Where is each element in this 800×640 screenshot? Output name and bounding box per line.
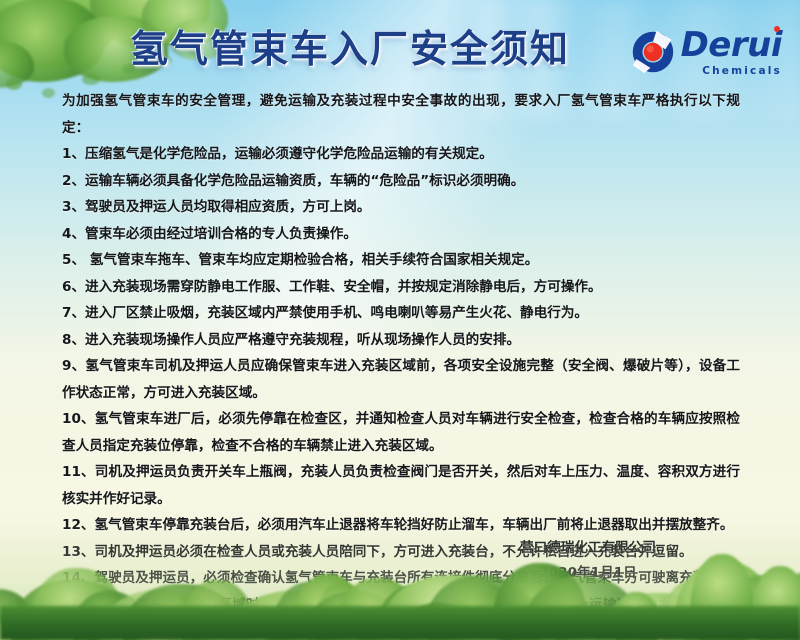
- rule-item-2: 2、运输车辆必须具备化学危险品运输资质，车辆的“危险品”标识必须明确。: [62, 168, 740, 195]
- logo-wordmark: Derui Chemicals: [681, 28, 782, 77]
- rule-item-7: 7、进入厂区禁止吸烟，充装区域内严禁使用手机、鸣电喇叭等易产生火花、静电行为。: [62, 300, 740, 327]
- rule-item-9: 9、氢气管束车司机及押运人员应确保管束车进入充装区域前，各项安全设施完整（安全阀…: [62, 353, 740, 406]
- derui-logo-mark-icon: [631, 30, 675, 74]
- rule-item-15: 15、氢气管束车驶离充装区域时，驾驶员或押运员必须全部关闭车后部的钢瓶阀。防止运…: [62, 592, 740, 640]
- tall-tree-crown: [752, 566, 800, 640]
- tree-crown: [742, 576, 800, 640]
- logo-subtitle: Chemicals: [702, 66, 782, 77]
- signature-block: 营口德瑞化工有限公司 2020年1月1日: [438, 536, 738, 586]
- tree-crown: [7, 626, 68, 640]
- logo-accent-dot-icon: [774, 26, 780, 32]
- tree-crown: [773, 571, 800, 640]
- tree-crown: [0, 589, 39, 640]
- rule-item-6: 6、进入充装现场需穿防静电工作服、工作鞋、安全帽，并按规定消除静电后，方可操作。: [62, 274, 740, 301]
- rule-item-12: 12、氢气管束车停靠充装台后，必须用汽车止退器将车轮挡好防止溜车，车辆出厂前将止…: [62, 512, 740, 539]
- company-logo: Derui Chemicals: [631, 28, 782, 77]
- rule-item-10: 10、氢气管束车进厂后，必须先停靠在检查区，并通知检查人员对车辆进行安全检查，检…: [62, 406, 740, 459]
- rule-item-5: 5、 氢气管束车拖车、管束车均应定期检验合格，相关手续符合国家相关规定。: [62, 247, 740, 274]
- tree-crown: [766, 612, 800, 640]
- rule-item-11: 11、司机及押运员负责开关车上瓶阀，充装人员负责检查阀门是否开关，然后对车上压力…: [62, 459, 740, 512]
- safety-notice-poster: 氢气管束车入厂安全须知 Derui Chemicals 为加强氢气管束车的安: [0, 0, 800, 640]
- tree-crown: [743, 579, 800, 640]
- logo-name: Derui: [681, 28, 782, 62]
- rule-item-4: 4、管束车必须由经过培训合格的专人负责操作。: [62, 221, 740, 248]
- signature-date: 2020年1月1日: [438, 561, 738, 586]
- notice-lead-paragraph: 为加强氢气管束车的安全管理，避免运输及充装过程中安全事故的出现，要求入厂氢气管束…: [62, 88, 740, 141]
- rule-item-3: 3、驾驶员及押运人员均取得相应资质，方可上岗。: [62, 194, 740, 221]
- tree-crown: [777, 612, 800, 640]
- signature-company: 营口德瑞化工有限公司: [438, 536, 738, 561]
- tree-crown: [0, 621, 45, 640]
- page-title: 氢气管束车入厂安全须知: [100, 26, 600, 72]
- rule-item-1: 1、压缩氢气是化学危险品，运输必须遵守化学危险品运输的有关规定。: [62, 141, 740, 168]
- poster-header: 氢气管束车入厂安全须知 Derui Chemicals: [0, 0, 800, 92]
- rule-item-8: 8、进入充装现场操作人员应严格遵守充装规程，听从现场操作人员的安排。: [62, 327, 740, 354]
